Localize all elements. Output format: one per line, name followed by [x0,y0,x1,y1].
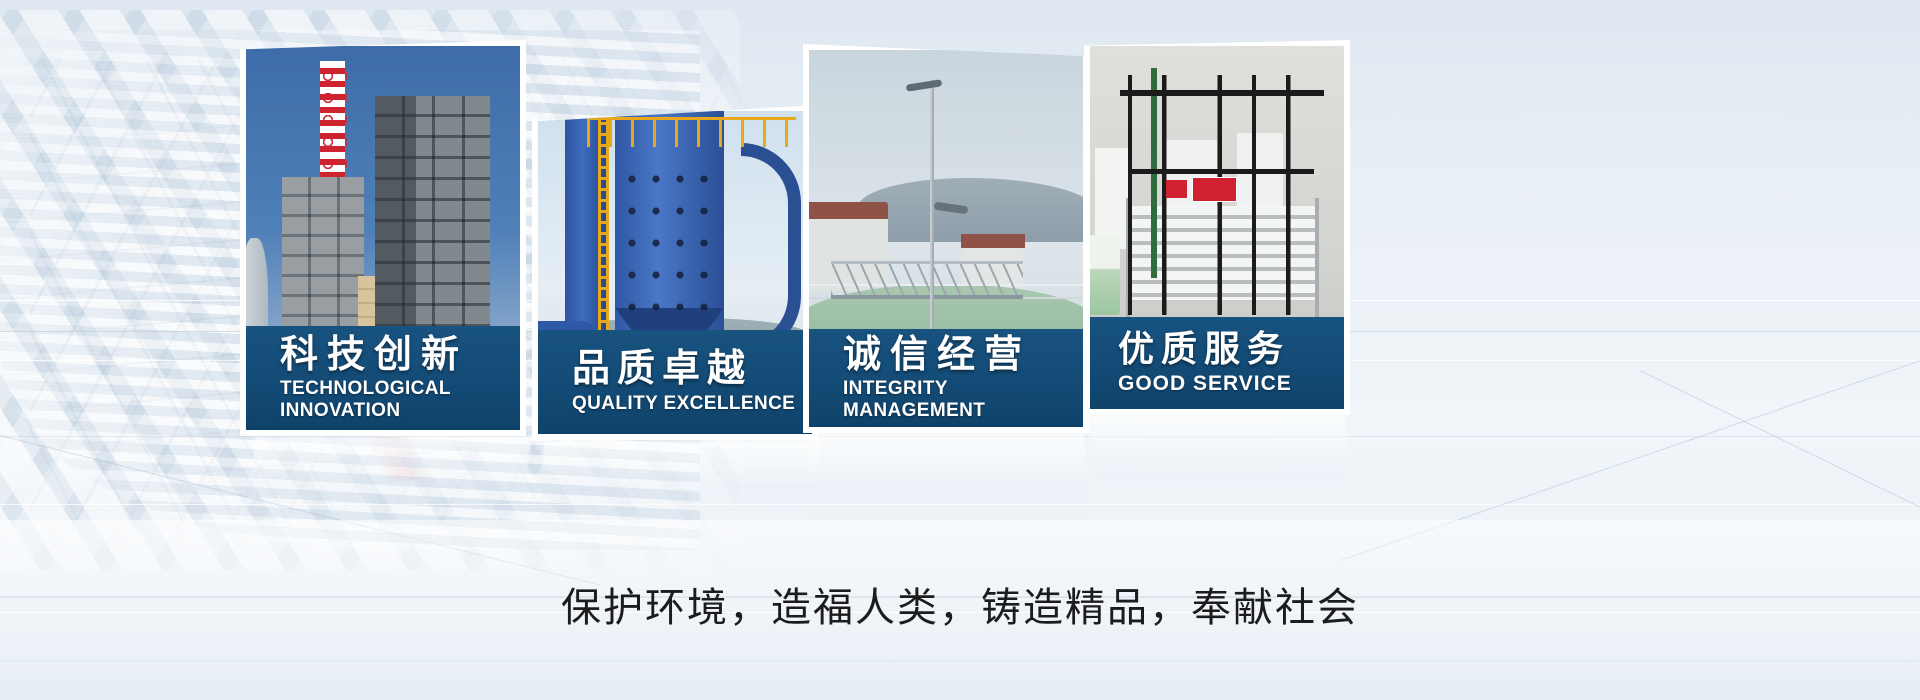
card-title-en: INTEGRITY MANAGEMENT [843,378,1083,422]
card-inner: 优质服务 GOOD SERVICE [1090,46,1344,409]
feature-card-technological-innovation[interactable]: 科技创新 TECHNOLOGICAL INNOVATION [240,40,526,436]
card-title-en: TECHNOLOGICAL INNOVATION [280,378,520,422]
card-title-en: QUALITY EXCELLENCE [572,393,812,415]
card-inner: 诚信经营 INTEGRITY MANAGEMENT [809,50,1083,427]
card-inner: 品质卓越 QUALITY EXCELLENCE [538,111,812,434]
card-inner: 科技创新 TECHNOLOGICAL INNOVATION [246,46,520,430]
card-title-cn: 优质服务 [1118,330,1344,368]
card-title-cn: 科技创新 [280,335,520,375]
card-label-band: 品质卓越 QUALITY EXCELLENCE [538,330,812,434]
promo-banner: 科技创新 TECHNOLOGICAL INNOVATION [0,0,1920,700]
card-label-band: 科技创新 TECHNOLOGICAL INNOVATION [246,326,520,430]
feature-card-quality-excellence[interactable]: 品质卓越 QUALITY EXCELLENCE [532,105,818,440]
banner-tagline: 保护环境，造福人类，铸造精品，奉献社会 [0,575,1920,633]
feature-card-integrity-management[interactable]: 诚信经营 INTEGRITY MANAGEMENT [803,44,1089,433]
feature-card-good-service[interactable]: 优质服务 GOOD SERVICE [1084,40,1350,415]
card-title-cn: 品质卓越 [572,349,812,389]
card-label-band: 诚信经营 INTEGRITY MANAGEMENT [809,329,1083,427]
card-label-band: 优质服务 GOOD SERVICE [1090,317,1344,409]
card-title-cn: 诚信经营 [843,335,1083,375]
card-title-en: GOOD SERVICE [1118,372,1344,396]
